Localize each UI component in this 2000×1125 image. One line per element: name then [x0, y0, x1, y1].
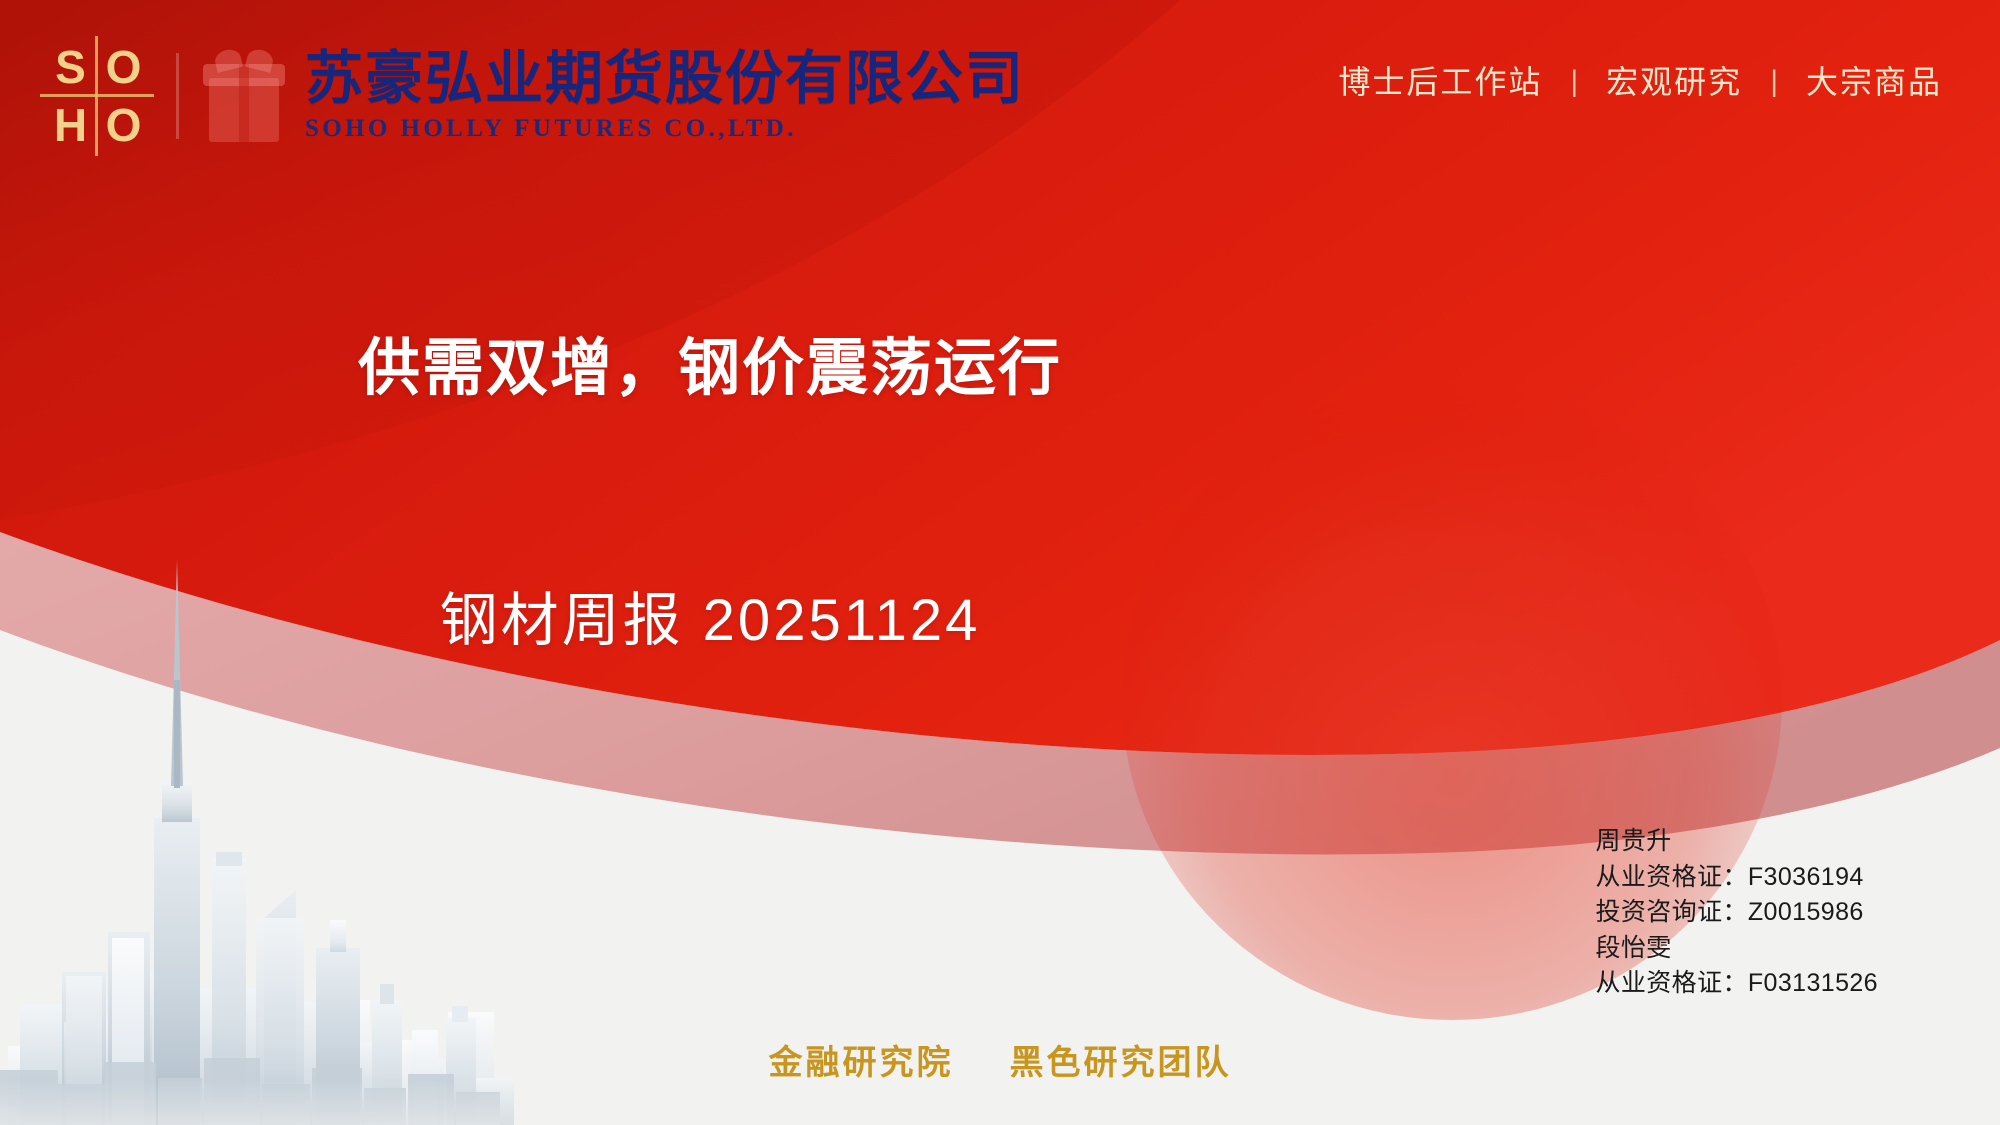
page-subtitle: 钢材周报 20251124	[0, 585, 1420, 658]
logo-divider	[176, 53, 179, 139]
company-name-en: SOHO HOLLY FUTURES CO.,LTD.	[305, 115, 1025, 143]
nav-item-commodities[interactable]: 大宗商品	[1804, 62, 1944, 102]
analyst-license-primary: 从业资格证：F3036194	[1595, 860, 1878, 896]
soho-letter-s: S	[44, 40, 97, 94]
slide-header: S O H O 苏豪弘业期货股份有限公司 SOHO HOLLY FUTURES …	[0, 0, 2000, 200]
nav-separator-2: |	[1770, 67, 1778, 97]
company-name-cn: 苏豪弘业期货股份有限公司	[305, 49, 1025, 109]
header-nav: 博士后工作站 | 宏观研究 | 大宗商品	[1336, 62, 1944, 102]
subtitle-area: 钢材周报 20251124	[0, 585, 1420, 658]
soho-letter-o1: O	[97, 40, 150, 94]
pink-accent-band	[0, 532, 2000, 854]
slide-footer: 金融研究院 黑色研究团队	[0, 1046, 2000, 1080]
nav-item-postdoc-station[interactable]: 博士后工作站	[1336, 62, 1544, 102]
footer-item-research-institute: 金融研究院	[769, 1046, 954, 1080]
gift-box-icon	[201, 48, 287, 144]
footer-item-ferrous-team: 黑色研究团队	[1010, 1046, 1232, 1080]
analyst-name-secondary: 段怡雯	[1595, 931, 1878, 967]
soho-letter-h: H	[44, 98, 97, 152]
soho-letter-o2: O	[97, 98, 150, 152]
analyst-name-primary: 周贵升	[1595, 824, 1878, 860]
page-title: 供需双增，钢价震荡运行	[0, 330, 1420, 408]
analyst-credentials: 周贵升 从业资格证：F3036194 投资咨询证：Z0015986 段怡雯 从业…	[1595, 824, 1878, 1002]
analyst-advisory-primary: 投资咨询证：Z0015986	[1595, 895, 1878, 931]
soho-logo: S O H O	[44, 40, 150, 152]
company-logo-block[interactable]: S O H O 苏豪弘业期货股份有限公司 SOHO HOLLY FUTURES …	[44, 36, 1025, 156]
gift-box-ribbon	[239, 64, 249, 142]
nav-item-macro-research[interactable]: 宏观研究	[1604, 62, 1744, 102]
company-wordmark: 苏豪弘业期货股份有限公司 SOHO HOLLY FUTURES CO.,LTD.	[305, 49, 1025, 143]
title-area: 供需双增，钢价震荡运行	[0, 330, 1420, 408]
slide-canvas: S O H O 苏豪弘业期货股份有限公司 SOHO HOLLY FUTURES …	[0, 0, 2000, 1125]
nav-separator-1: |	[1570, 67, 1578, 97]
analyst-license-secondary: 从业资格证：F03131526	[1595, 966, 1878, 1002]
